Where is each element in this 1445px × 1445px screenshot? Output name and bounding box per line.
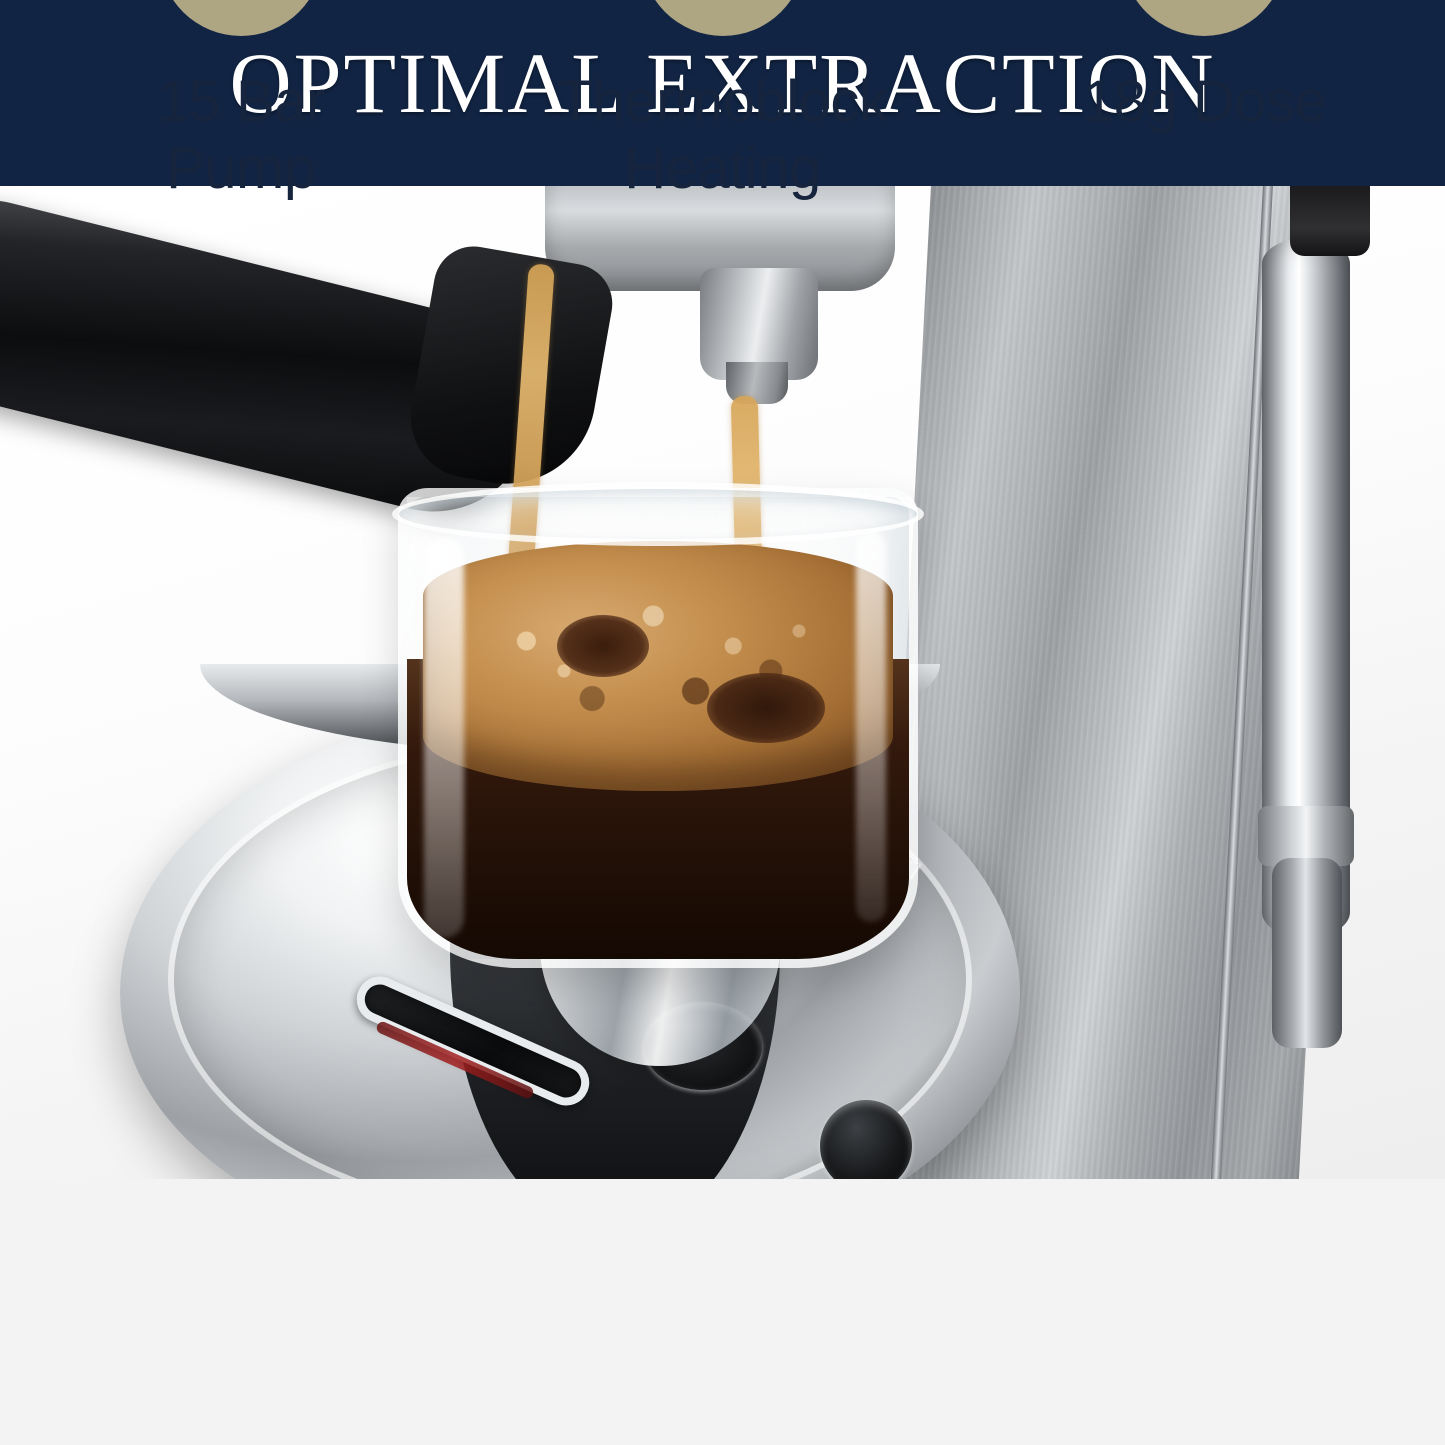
extraction-spot xyxy=(707,673,825,743)
glass-espresso-cup xyxy=(398,488,918,968)
steam-wand-lower-tube xyxy=(1272,858,1342,1048)
feature-label-dose: 18g Dose xyxy=(1082,68,1326,135)
feature-item-heating: Thermoblock Heating xyxy=(482,0,964,203)
filter-baskets-icon xyxy=(1122,0,1286,36)
pressure-gauge-icon xyxy=(159,0,323,36)
feature-label-heating: Thermoblock Heating xyxy=(558,68,888,203)
glass-highlight-left xyxy=(424,538,464,938)
extraction-spot xyxy=(557,615,649,677)
product-feature-graphic: A OPTIMAL EXTRACTION xyxy=(0,0,1445,1445)
feature-list: 15 Bar Pump Thermobl xyxy=(0,0,1445,203)
feature-panel xyxy=(0,1179,1445,1445)
feature-item-pump: 15 Bar Pump xyxy=(0,0,482,203)
feature-item-dose: 18g Dose xyxy=(963,0,1445,203)
product-photo: A xyxy=(0,186,1445,1179)
glass-highlight-right xyxy=(856,532,886,922)
glass-cup-rim xyxy=(392,482,924,546)
feature-label-pump: 15 Bar Pump xyxy=(157,68,325,203)
crema-bubbles xyxy=(423,541,893,791)
steam-wand-collar xyxy=(1258,806,1354,866)
drip-hole xyxy=(820,1100,912,1179)
heating-coil-icon xyxy=(641,0,805,36)
